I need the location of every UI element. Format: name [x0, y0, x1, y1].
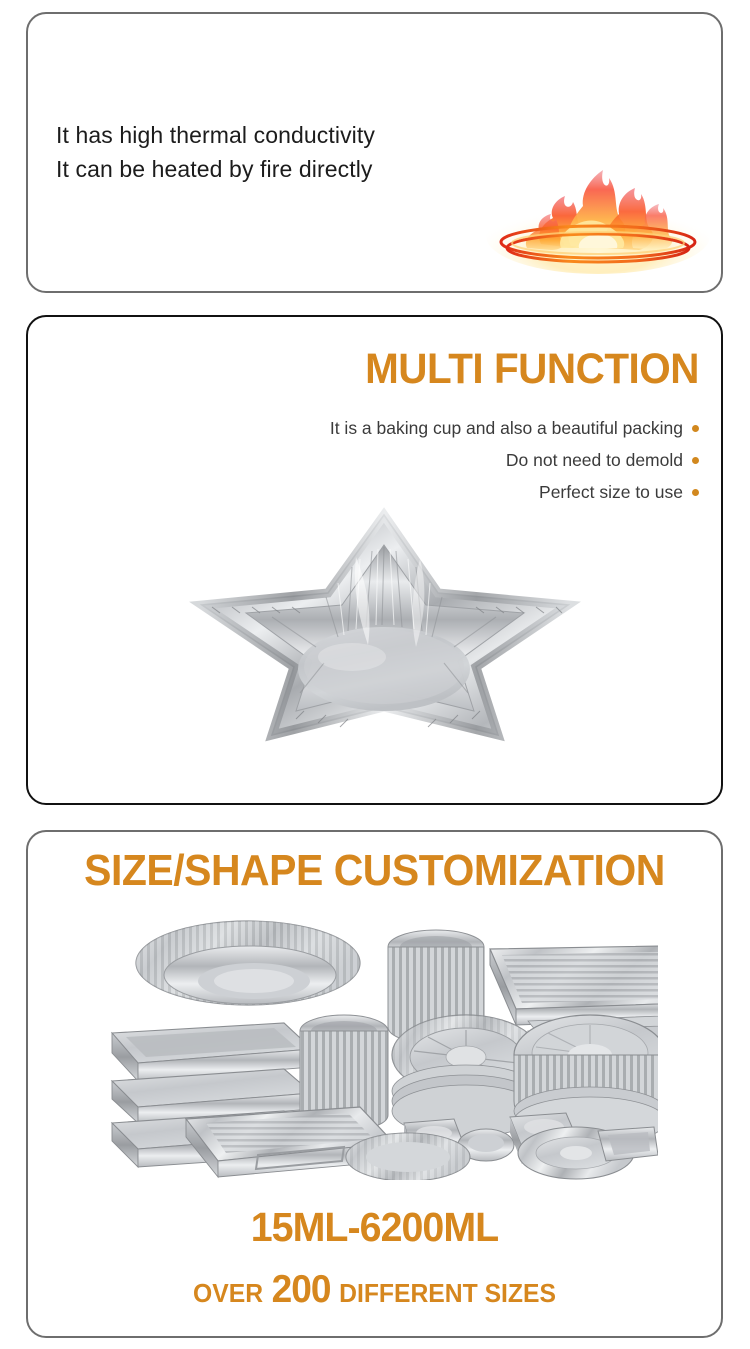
thermal-conductivity-card: It has high thermal conductivity It can …: [26, 12, 723, 293]
multi-function-card: MULTI FUNCTION It is a baking cup and al…: [26, 315, 723, 805]
bullet-label: Do not need to demold: [506, 450, 683, 471]
thermal-line-1: It has high thermal conductivity: [56, 118, 375, 152]
different-sizes-line: OVER200DIFFERENT SIZES: [45, 1268, 703, 1312]
multi-function-heading: MULTI FUNCTION: [68, 345, 699, 394]
list-item: Do not need to demold: [330, 444, 699, 476]
bullet-dot-icon: [692, 489, 699, 496]
different-sizes-label: DIFFERENT SIZES: [339, 1278, 556, 1308]
thermal-text-block: It has high thermal conductivity It can …: [56, 118, 375, 186]
bullet-dot-icon: [692, 457, 699, 464]
bullet-label: It is a baking cup and also a beautiful …: [330, 418, 683, 439]
list-item: It is a baking cup and also a beautiful …: [330, 412, 699, 444]
size-shape-customization-card: SIZE/SHAPE CUSTOMIZATION: [26, 830, 723, 1338]
assorted-aluminum-foil-containers: [98, 905, 658, 1180]
multi-function-bullet-list: It is a baking cup and also a beautiful …: [330, 412, 699, 508]
bullet-dot-icon: [692, 425, 699, 432]
over-label: OVER: [193, 1278, 263, 1308]
star-shaped-foil-baking-cup: [176, 497, 596, 747]
fire-flames-graphic: [483, 144, 713, 274]
thermal-line-2: It can be heated by fire directly: [56, 152, 375, 186]
size-count: 200: [272, 1268, 331, 1311]
capacity-range-label: 15ML-6200ML: [42, 1204, 707, 1251]
product-feature-page: It has high thermal conductivity It can …: [0, 0, 750, 1349]
size-shape-heading: SIZE/SHAPE CUSTOMIZATION: [52, 846, 696, 896]
